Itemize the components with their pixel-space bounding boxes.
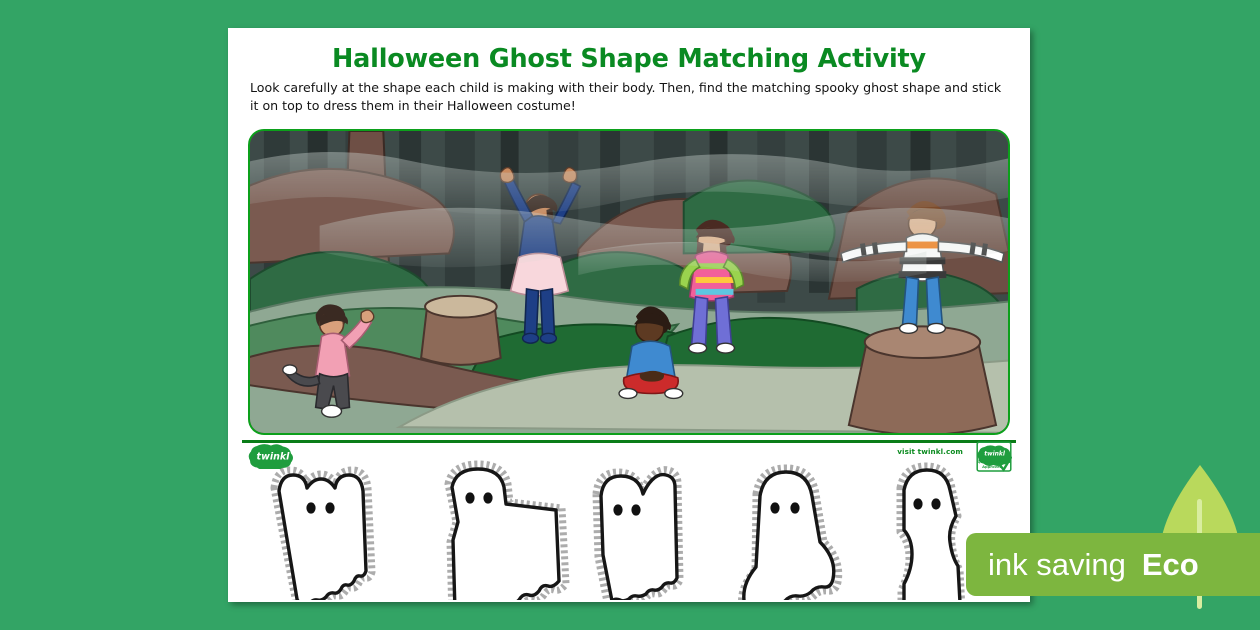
eco-badge-text: ink savingEco <box>966 547 1199 583</box>
forest-scene-svg <box>250 131 1008 433</box>
ghost-cutouts-row <box>250 454 1010 600</box>
section-divider <box>242 440 1016 443</box>
eco-text-bold: Eco <box>1142 547 1199 582</box>
forest-illustration <box>248 129 1010 435</box>
worksheet-page: Halloween Ghost Shape Matching Activity … <box>228 28 1030 602</box>
page-subtitle: Look carefully at the shape each child i… <box>250 79 1008 115</box>
ghost-cutout-2[interactable] <box>392 454 570 600</box>
ink-saving-eco-badge: ink savingEco <box>966 533 1260 596</box>
ghost-cutout-3[interactable] <box>570 454 710 600</box>
ghost-cutout-4[interactable] <box>710 454 860 600</box>
page-title: Halloween Ghost Shape Matching Activity <box>228 28 1030 74</box>
ghost-cutout-1[interactable] <box>250 454 392 600</box>
eco-text-regular: ink saving <box>988 547 1126 582</box>
